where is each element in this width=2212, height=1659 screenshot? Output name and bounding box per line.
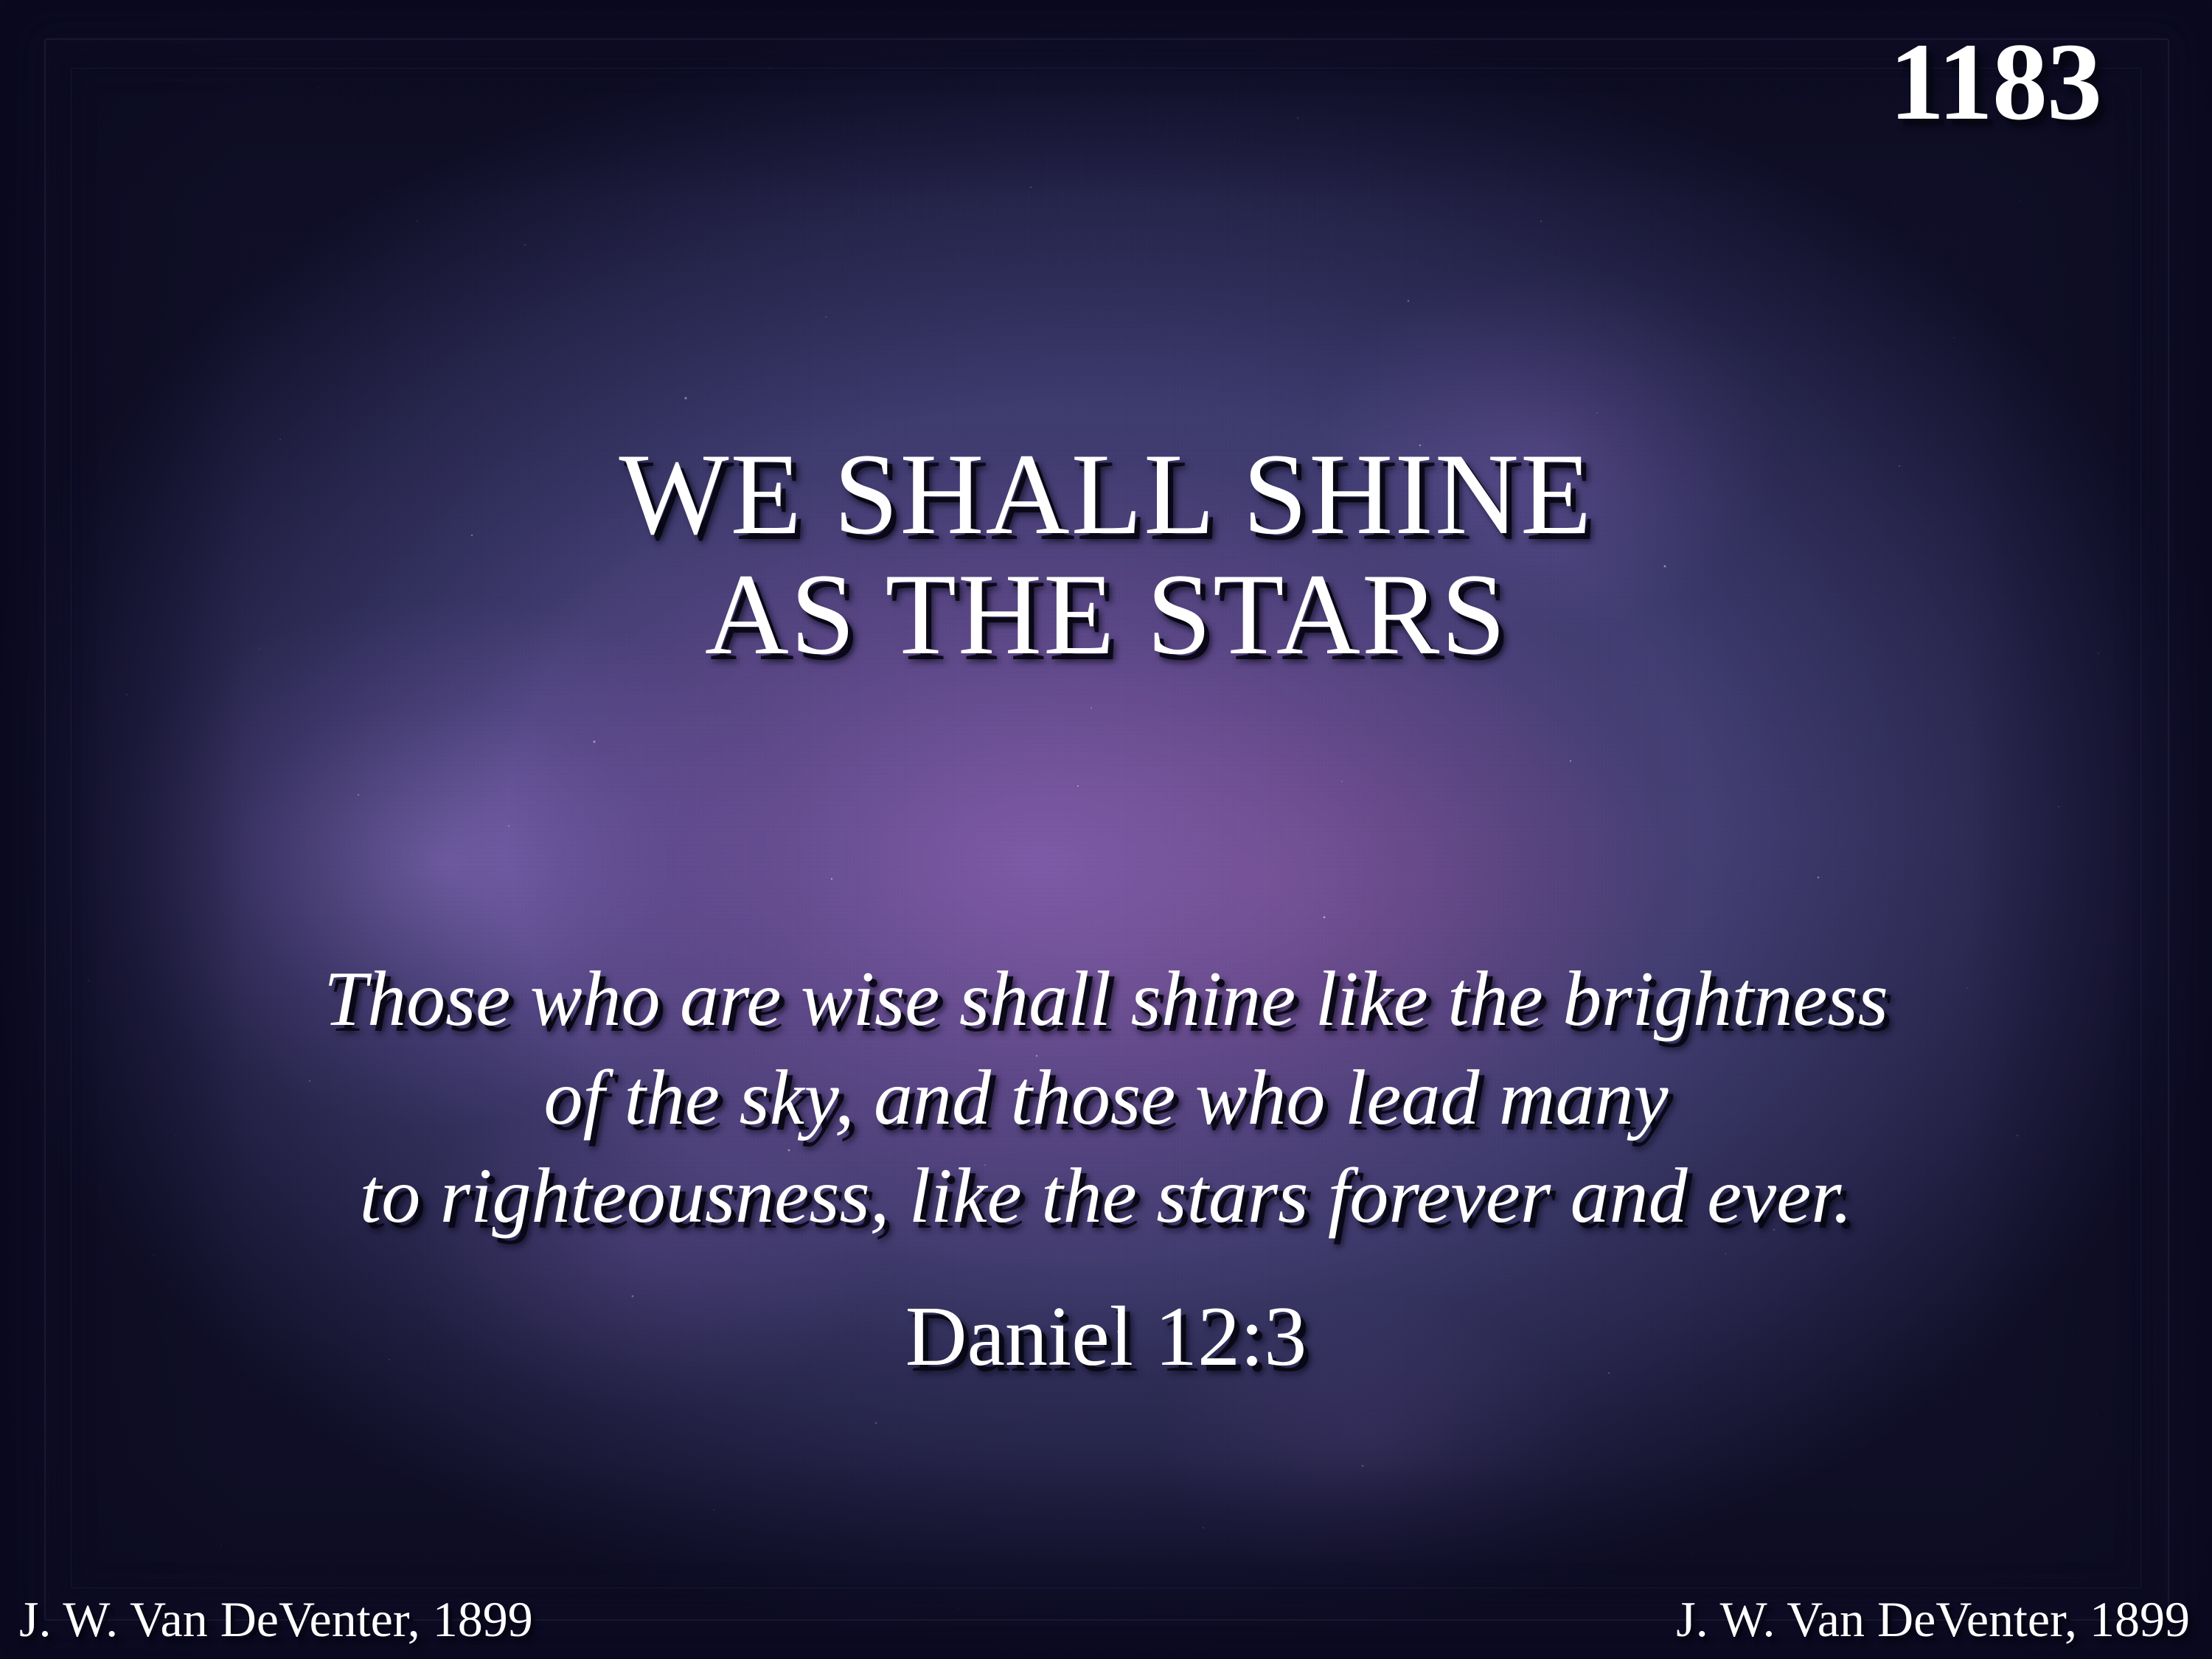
scripture-line-3: to righteousness, like the stars forever… xyxy=(0,1147,2212,1245)
footer-attribution-right: J. W. Van DeVenter, 1899 xyxy=(1676,1594,2190,1644)
hymn-slide: 1183 WE SHALL SHINE AS THE STARS Those w… xyxy=(0,0,2212,1659)
scripture-line-2: of the sky, and those who lead many xyxy=(0,1048,2212,1147)
title-line-1: WE SHALL SHINE xyxy=(0,435,2212,555)
footer-attribution-left: J. W. Van DeVenter, 1899 xyxy=(19,1594,533,1644)
slide-number: 1183 xyxy=(1889,27,2101,137)
title-line-2: AS THE STARS xyxy=(0,555,2212,675)
scripture-line-1: Those who are wise shall shine like the … xyxy=(0,950,2212,1048)
scripture-passage: Those who are wise shall shine like the … xyxy=(0,950,2212,1245)
slide-title: WE SHALL SHINE AS THE STARS xyxy=(0,435,2212,675)
scripture-reference: Daniel 12:3 xyxy=(0,1294,2212,1380)
